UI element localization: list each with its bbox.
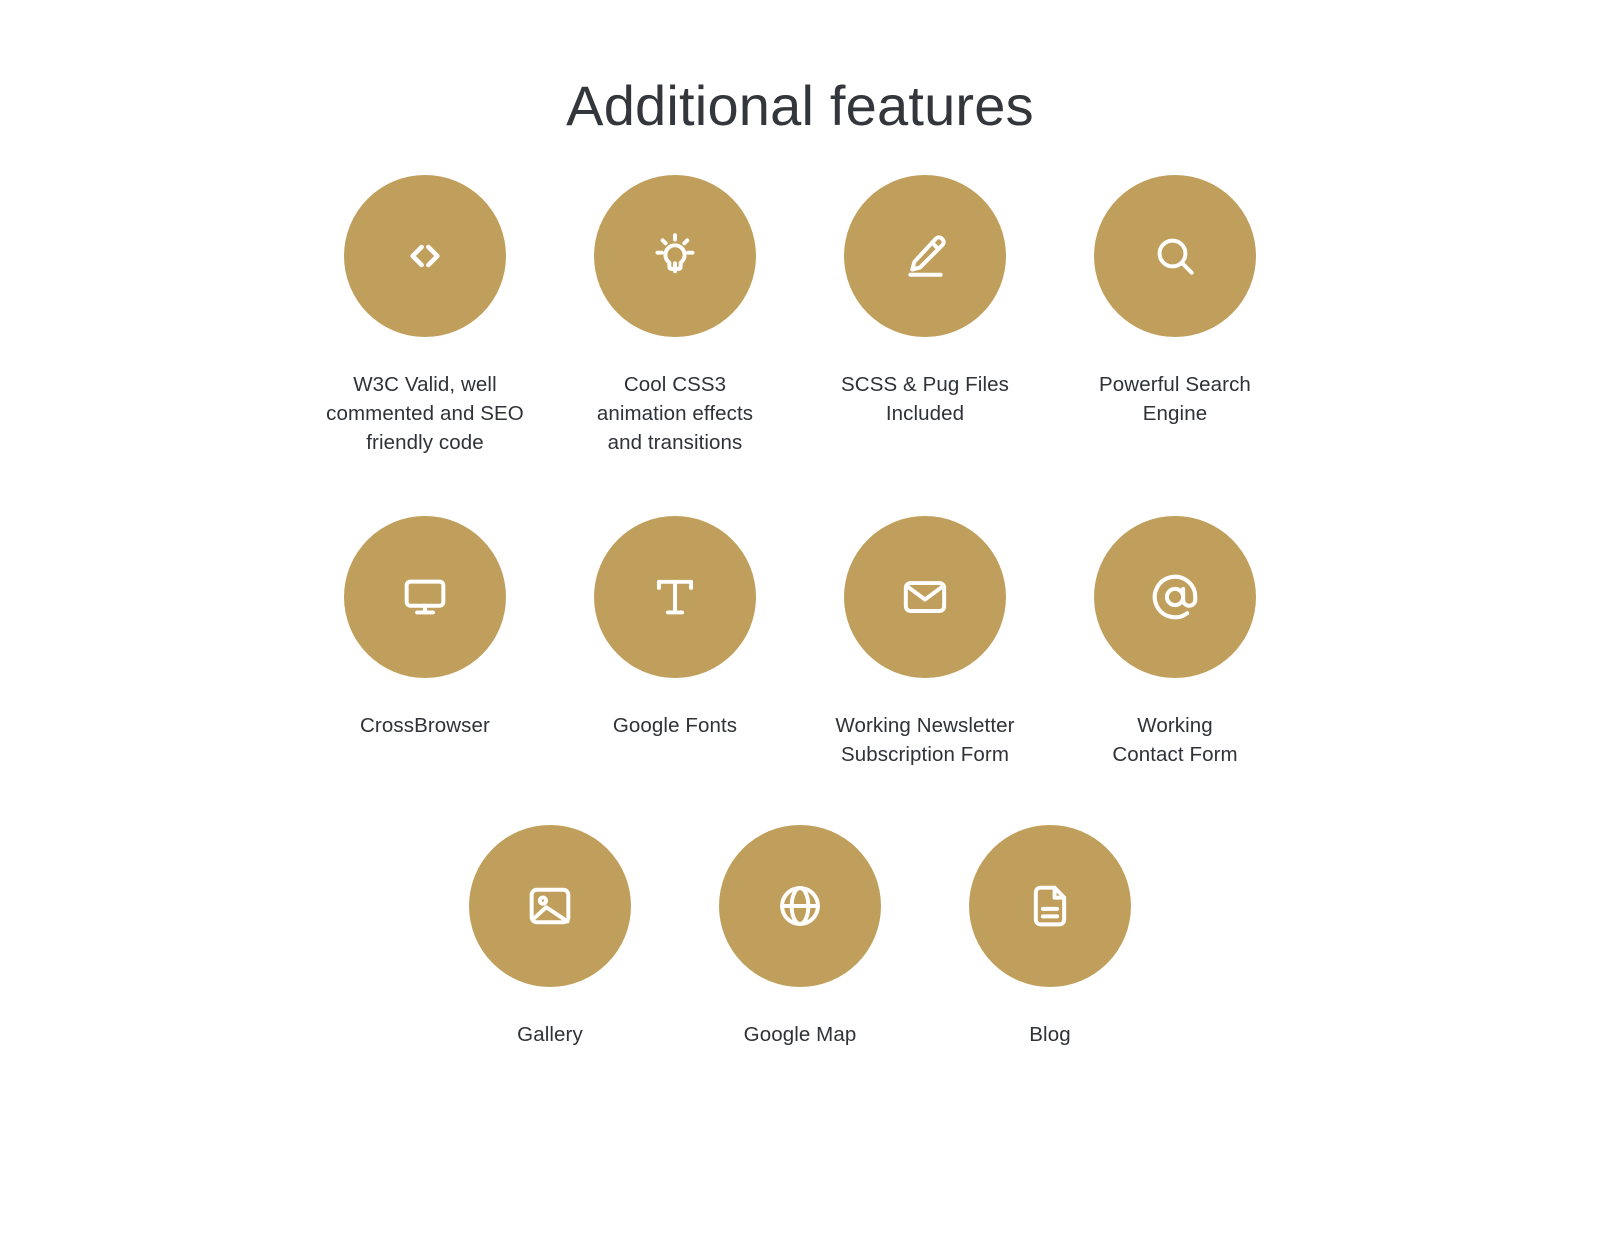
additional-features-section: Additional features W3C Valid, well comm… (0, 0, 1600, 1242)
feature-icon-circle[interactable] (844, 516, 1006, 678)
feature-icon-circle[interactable] (594, 516, 756, 678)
text-type-icon (650, 572, 700, 622)
feature-item-w3c-valid[interactable]: W3C Valid, well commented and SEO friend… (300, 175, 550, 457)
feature-item-google-fonts[interactable]: Google Fonts (550, 516, 800, 769)
code-brackets-icon (398, 229, 452, 283)
feature-label: Google Map (744, 1020, 857, 1049)
feature-icon-circle[interactable] (344, 175, 506, 337)
feature-item-crossbrowser[interactable]: CrossBrowser (300, 516, 550, 769)
document-icon (1025, 881, 1075, 931)
feature-icon-circle[interactable] (969, 825, 1131, 987)
feature-label: Cool CSS3 animation effects and transiti… (597, 370, 753, 457)
feature-item-blog[interactable]: Blog (925, 825, 1175, 1049)
feature-icon-circle[interactable] (1094, 175, 1256, 337)
feature-icon-circle[interactable] (469, 825, 631, 987)
feature-icon-circle[interactable] (844, 175, 1006, 337)
feature-label: CrossBrowser (360, 711, 490, 740)
feature-icon-circle[interactable] (344, 516, 506, 678)
feature-label: Working Newsletter Subscription Form (835, 711, 1014, 769)
lightbulb-icon (650, 231, 700, 281)
at-sign-icon (1148, 570, 1202, 624)
feature-item-google-map[interactable]: Google Map (675, 825, 925, 1049)
envelope-icon (900, 572, 950, 622)
monitor-icon (400, 572, 450, 622)
feature-label: Powerful Search Engine (1099, 370, 1251, 428)
feature-grid-row-3: Gallery Google Map (300, 825, 1300, 1049)
image-gallery-icon (525, 881, 575, 931)
feature-icon-circle[interactable] (719, 825, 881, 987)
feature-item-contact-form[interactable]: Working Contact Form (1050, 516, 1300, 769)
page-title: Additional features (0, 0, 1600, 139)
feature-item-scss-pug[interactable]: SCSS & Pug Files Included (800, 175, 1050, 457)
pencil-edit-icon (900, 231, 950, 281)
feature-item-newsletter-form[interactable]: Working Newsletter Subscription Form (800, 516, 1050, 769)
feature-label: Working Contact Form (1112, 711, 1237, 769)
feature-label: Blog (1029, 1020, 1070, 1049)
feature-item-gallery[interactable]: Gallery (425, 825, 675, 1049)
feature-label: Gallery (517, 1020, 583, 1049)
feature-icon-circle[interactable] (1094, 516, 1256, 678)
search-icon (1150, 231, 1200, 281)
feature-item-search-engine[interactable]: Powerful Search Engine (1050, 175, 1300, 457)
feature-label: Google Fonts (613, 711, 737, 740)
feature-item-css3-animation[interactable]: Cool CSS3 animation effects and transiti… (550, 175, 800, 457)
feature-label: W3C Valid, well commented and SEO friend… (326, 370, 524, 457)
feature-grid-row-1: W3C Valid, well commented and SEO friend… (300, 139, 1300, 515)
globe-icon (775, 881, 825, 931)
feature-icon-circle[interactable] (594, 175, 756, 337)
feature-label: SCSS & Pug Files Included (841, 370, 1009, 428)
feature-grid-row-2: CrossBrowser Google Fonts (300, 516, 1300, 825)
